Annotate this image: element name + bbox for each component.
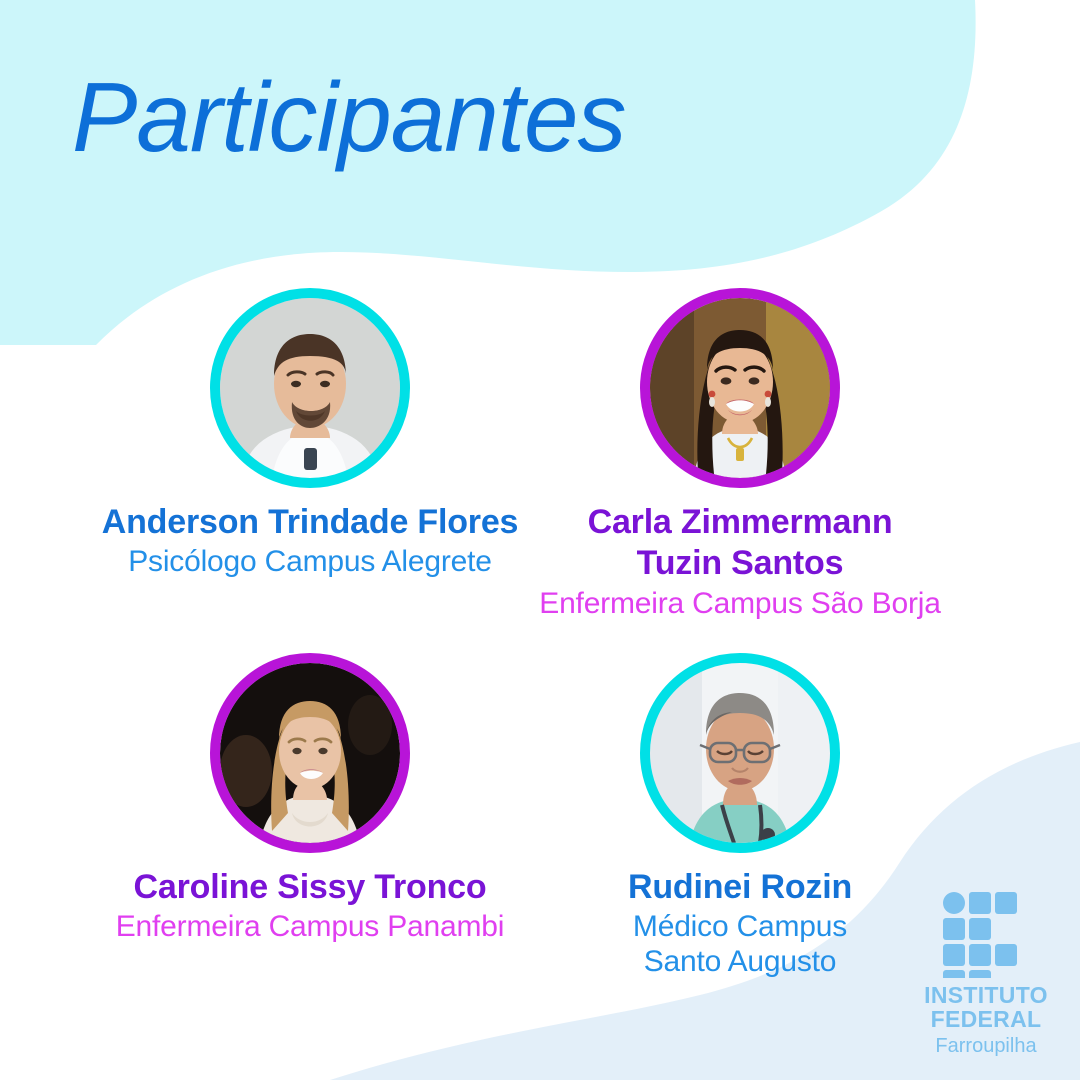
instituto-federal-logo: INSTITUTO FEDERAL Farroupilha: [912, 892, 1060, 1056]
avatar: [210, 653, 410, 853]
participant-role: Psicólogo Campus Alegrete: [80, 545, 540, 580]
instituto-federal-grid-mark: [943, 892, 1029, 978]
logo-word-instituto: INSTITUTO: [912, 984, 1060, 1007]
participant-role-line-1: Médico Campus: [510, 910, 970, 945]
logo-word-federal: FEDERAL: [912, 1008, 1060, 1031]
participant-role-line-2: Santo Augusto: [510, 945, 970, 980]
participant-role: Enfermeira Campus Panambi: [80, 910, 540, 945]
avatar-ring: [640, 653, 840, 853]
participant-name-line-1: Carla Zimmermann: [510, 502, 970, 543]
avatar: [210, 288, 410, 488]
avatar-ring: [640, 288, 840, 488]
avatar-ring: [210, 653, 410, 853]
participant-card[interactable]: Anderson Trindade Flores Psicólogo Campu…: [80, 288, 540, 580]
avatar: [640, 653, 840, 853]
participant-card[interactable]: Carla Zimmermann Tuzin Santos Enfermeira…: [510, 288, 970, 622]
participant-name: Anderson Trindade Flores: [80, 502, 540, 543]
participant-name-line-2: Tuzin Santos: [510, 543, 970, 584]
participant-name: Caroline Sissy Tronco: [80, 867, 540, 908]
poster-canvas: Participantes: [0, 0, 1080, 1080]
avatar-ring: [210, 288, 410, 488]
participant-card[interactable]: Caroline Sissy Tronco Enfermeira Campus …: [80, 653, 540, 945]
participant-role: Enfermeira Campus São Borja: [510, 587, 970, 622]
avatar: [640, 288, 840, 488]
participant-name: Rudinei Rozin: [510, 867, 970, 908]
logo-subtitle-farroupilha: Farroupilha: [912, 1036, 1060, 1056]
participant-card[interactable]: Rudinei Rozin Médico Campus Santo August…: [510, 653, 970, 980]
